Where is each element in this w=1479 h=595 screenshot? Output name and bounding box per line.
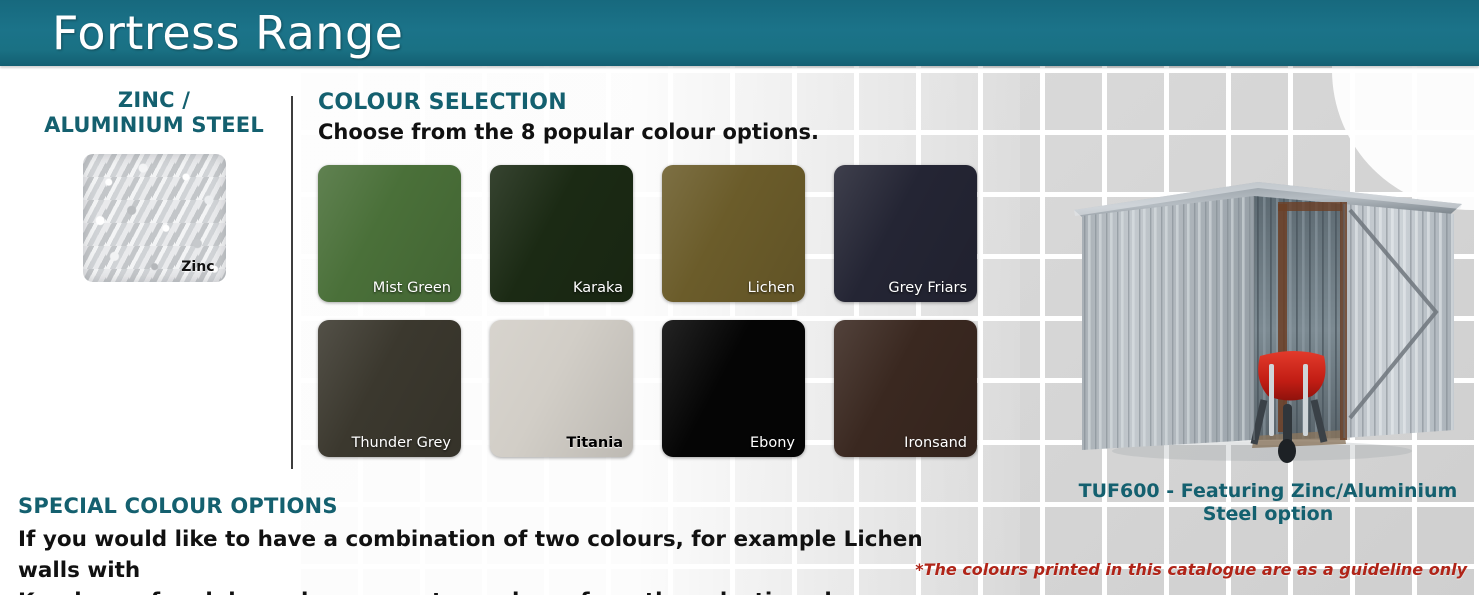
- colour-swatch-row-2: Thunder Grey Titania Ebony Ironsand: [318, 320, 990, 457]
- swatch-label: Karaka: [573, 280, 623, 296]
- colour-swatch-thunder-grey[interactable]: Thunder Grey: [318, 320, 461, 457]
- special-colour-options-heading: SPECIAL COLOUR OPTIONS: [18, 494, 978, 518]
- colour-selection-heading: COLOUR SELECTION: [318, 90, 567, 115]
- colour-swatch-mist-green[interactable]: Mist Green: [318, 165, 461, 302]
- swatch-label: Lichen: [748, 280, 795, 296]
- zinc-heading-line-2: ALUMINIUM STEEL: [18, 113, 290, 138]
- swatch-label: Mist Green: [373, 280, 451, 296]
- zinc-heading: ZINC / ALUMINIUM STEEL: [18, 88, 290, 138]
- caption-line-2: Steel option: [1062, 503, 1474, 526]
- zinc-swatch-label: Zinc: [181, 259, 214, 275]
- colour-swatch-lichen[interactable]: Lichen: [662, 165, 805, 302]
- swatch-label: Titania: [566, 435, 623, 451]
- colour-selection-subheading: Choose from the 8 popular colour options…: [318, 120, 819, 144]
- header-banner: Fortress Range: [0, 0, 1479, 66]
- colour-swatch-karaka[interactable]: Karaka: [490, 165, 633, 302]
- swatch-label: Ebony: [750, 435, 795, 451]
- zinc-aluminium-panel: ZINC / ALUMINIUM STEEL Zinc: [18, 88, 290, 282]
- colour-swatch-ebony[interactable]: Ebony: [662, 320, 805, 457]
- colour-swatch-row-1: Mist Green Karaka Lichen Grey Friars: [318, 165, 990, 302]
- product-photo-caption: TUF600 - Featuring Zinc/Aluminium Steel …: [1062, 480, 1474, 526]
- colour-swatch-titania[interactable]: Titania: [490, 320, 633, 457]
- special-colour-options: SPECIAL COLOUR OPTIONS If you would like…: [18, 494, 978, 595]
- colour-swatch-grey-friars[interactable]: Grey Friars: [834, 165, 977, 302]
- colour-swatch-ironsand[interactable]: Ironsand: [834, 320, 977, 457]
- special-colour-options-body: If you would like to have a combination …: [18, 524, 978, 595]
- swatch-label: Grey Friars: [888, 280, 967, 296]
- special-body-line-2: Karaka roof and door, choose any two col…: [18, 586, 978, 595]
- zinc-swatch[interactable]: Zinc: [83, 154, 226, 282]
- product-photo: [1062, 168, 1467, 468]
- colour-guideline-disclaimer: *The colours printed in this catalogue a…: [915, 560, 1467, 579]
- page-title: Fortress Range: [52, 2, 403, 64]
- swatch-label: Thunder Grey: [351, 435, 451, 451]
- catalogue-page: Fortress Range ZINC / ALUMINIUM STEEL Zi…: [0, 0, 1479, 595]
- shed-illustration: [1062, 168, 1467, 468]
- special-body-line-1: If you would like to have a combination …: [18, 524, 978, 586]
- colour-swatch-grid: Mist Green Karaka Lichen Grey Friars Thu…: [318, 165, 990, 457]
- swatch-label: Ironsand: [904, 435, 967, 451]
- zinc-heading-line-1: ZINC /: [18, 88, 290, 113]
- caption-line-1: TUF600 - Featuring Zinc/Aluminium: [1062, 480, 1474, 503]
- vertical-divider: [291, 96, 293, 469]
